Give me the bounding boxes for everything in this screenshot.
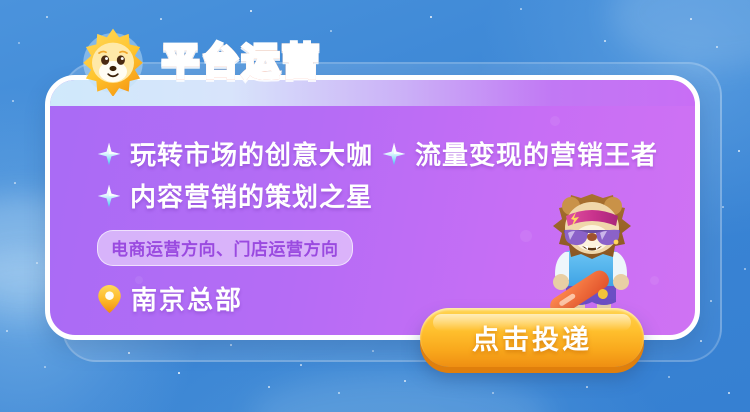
sparkle-icon [97, 142, 121, 166]
title-row: 平台运营 [78, 26, 322, 96]
star-dot [18, 42, 20, 44]
highlight-text: 流量变现的营销王者 [415, 135, 658, 172]
star-dot [178, 372, 180, 374]
star-dot [716, 46, 718, 48]
star-dot [738, 150, 740, 152]
star-dot [36, 262, 38, 264]
star-dot [668, 376, 670, 378]
star-dot [586, 386, 588, 388]
sparkle-icon [382, 142, 406, 166]
highlight-line-1: 玩转市场的创意大咖 流量变现的营销王者 [97, 135, 700, 172]
star-dot [338, 392, 340, 394]
location-label: 南京总部 [131, 280, 243, 317]
sparkle-icon [97, 184, 121, 208]
star-dot [330, 30, 332, 32]
star-dot [6, 330, 8, 332]
apply-button[interactable]: 点击投递 [420, 308, 644, 367]
star-dot [160, 18, 162, 20]
star-dot [690, 18, 692, 20]
star-dot [404, 380, 406, 382]
highlight-item: 玩转市场的创意大咖 [97, 135, 373, 172]
highlight-item: 流量变现的营销王者 [382, 135, 658, 172]
star-dot [430, 16, 432, 18]
star-dot [250, 10, 252, 12]
lion-head-sunburst-icon [78, 26, 148, 96]
star-dot [744, 268, 746, 270]
highlight-item: 内容营销的策划之星 [97, 177, 373, 214]
star-dot [44, 366, 46, 368]
star-dot [520, 8, 522, 10]
star-dot [268, 386, 270, 388]
star-dot [492, 392, 494, 394]
star-dot [604, 40, 606, 42]
star-dot [728, 392, 730, 394]
star-dot [722, 206, 724, 208]
highlight-text: 玩转市场的创意大咖 [130, 135, 373, 172]
apply-button-label: 点击投递 [472, 318, 592, 357]
star-dot [12, 100, 14, 102]
page-title: 平台运营 [162, 43, 322, 80]
star-dot [300, 364, 302, 366]
highlight-text: 内容营销的策划之星 [130, 177, 373, 214]
star-dot [46, 16, 48, 18]
star-dot [14, 182, 16, 184]
job-direction-tag: 电商运营方向、门店运营方向 [97, 230, 353, 266]
map-pin-icon [97, 284, 122, 314]
